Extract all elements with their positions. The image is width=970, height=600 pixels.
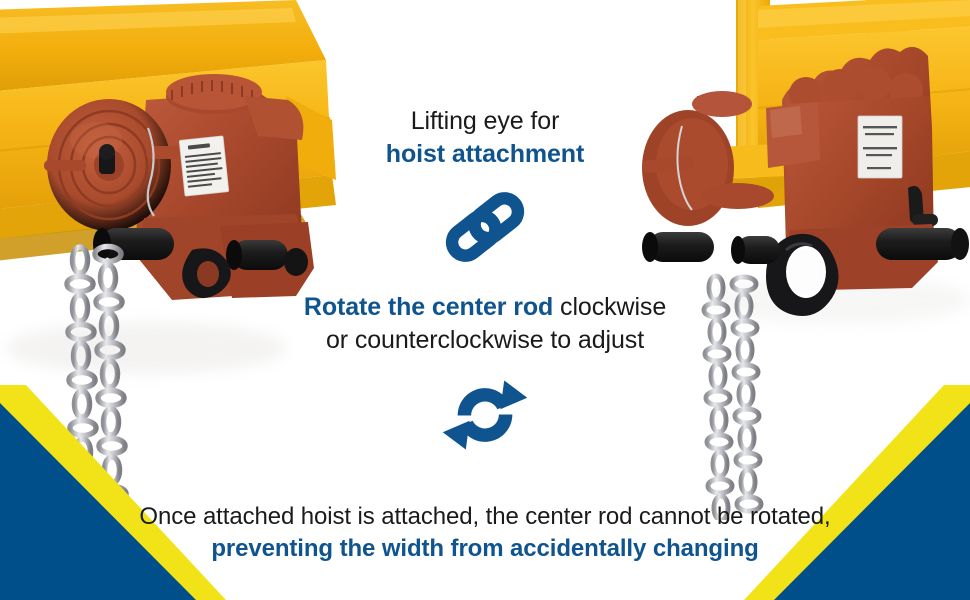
chain-link-icon [437,185,533,269]
rotate-rod-line-2: or counterclockwise to adjust [135,324,835,357]
lifting-eye-line-2: hoist attachment [135,138,835,171]
locked-width-line-1: Once attached hoist is attached, the cen… [135,501,835,533]
feature-lifting-eye: Lifting eye for hoist attachment [135,0,835,269]
feature-locked-width: Once attached hoist is attached, the cen… [135,477,835,564]
product-label [858,116,902,178]
rotate-rod-emphasis: Rotate the center rod [304,293,553,321]
rotate-rod-plain: clockwise [553,293,666,321]
feature-text-column: Lifting eye for hoist attachment [135,0,835,564]
lifting-eye-line-1: Lifting eye for [135,105,835,138]
feature-rotate-rod: Rotate the center rod clockwise or count… [135,269,835,455]
product-infographic: Lifting eye for hoist attachment [0,0,970,600]
rotate-arrows-icon [437,375,533,455]
rotate-rod-line-1: Rotate the center rod clockwise [135,291,835,324]
locked-width-line-2: preventing the width from accidentally c… [135,533,835,565]
